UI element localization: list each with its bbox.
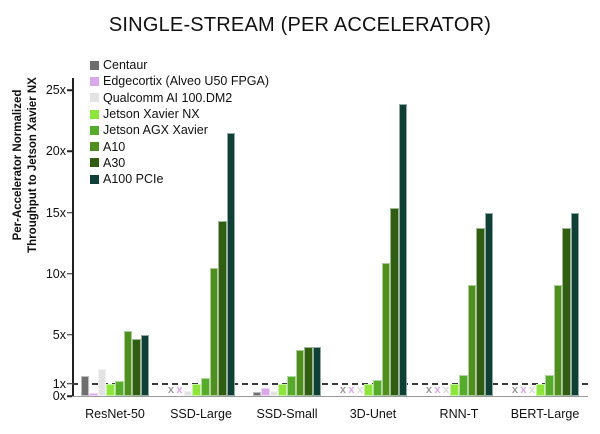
missing-value-x-marker: x [528,384,537,396]
bar [536,384,545,396]
legend-item[interactable]: Qualcomm AI 100.DM2 [90,90,269,106]
legend-item[interactable]: Edgecortix (Alveo U50 FPGA) [90,73,269,89]
y-axis-title-line-1: Per-Accelerator Normalized [11,45,26,285]
legend-item[interactable]: A30 [90,155,269,171]
bar [571,213,580,396]
legend-item-label: A30 [103,156,125,170]
missing-value-x-marker: x [519,384,528,396]
x-axis-category-label: RNN-T [416,396,502,421]
legend-item-label: Jetson AGX Xavier [103,123,208,137]
bar [218,221,227,396]
bar [382,263,391,396]
bar [373,380,382,397]
missing-value-x-marker: x [356,384,365,396]
bar [304,347,313,396]
bar [192,384,201,396]
missing-value-x-marker: x [511,384,520,396]
bar-group: xxxBERT-Large [502,78,588,396]
missing-value-x-marker: x [442,384,451,396]
bar [132,339,141,396]
missing-value-x-marker: x [425,384,434,396]
bar [485,213,494,396]
legend-item[interactable]: Centaur [90,57,269,73]
bar [562,228,571,396]
bar [81,376,90,396]
legend-swatch-icon [90,61,99,70]
legend-item[interactable]: Jetson AGX Xavier [90,122,269,138]
missing-value-x-marker: x [433,384,442,396]
bar [476,228,485,396]
missing-value-x-marker: x [347,384,356,396]
x-axis-category-label: ResNet-50 [72,396,158,421]
bar [313,347,322,396]
bar [554,285,563,396]
chart-title: SINGLE-STREAM (PER ACCELERATOR) [0,14,600,37]
legend-swatch-icon [90,93,99,102]
y-axis-tick-label: 5x [53,328,66,342]
bar-group: xxxRNN-T [416,78,502,396]
missing-value-x-marker: x [175,384,184,396]
x-axis-category-label: SSD-Large [158,396,244,421]
legend-swatch-icon [90,126,99,135]
legend-item-label: A100 PCIe [103,172,163,186]
chart-container: SINGLE-STREAM (PER ACCELERATOR) Per-Acce… [0,0,600,434]
legend-swatch-icon [90,158,99,167]
y-axis-tick-label: 1x [53,377,66,391]
legend-item-label: A10 [103,140,125,154]
y-axis-title-line-2: Throughput to Jetson Xavier NX [26,45,41,285]
bar [545,375,554,396]
bar [124,331,133,396]
x-axis-category-label: 3D-Unet [330,396,416,421]
x-axis-category-label: BERT-Large [502,396,588,421]
bar [141,335,150,396]
bar [450,384,459,396]
bar [210,268,219,396]
y-axis-tick-label: 15x [46,206,66,220]
legend-item[interactable]: A100 PCIe [90,171,269,187]
legend-swatch-icon [90,175,99,184]
bar-group: xxx3D-Unet [330,78,416,396]
legend-swatch-icon [90,77,99,86]
bar [296,350,305,396]
bar [287,376,296,396]
bar [278,384,287,396]
bar [399,104,408,396]
bar [201,378,210,396]
legend-item[interactable]: A10 [90,138,269,154]
bar [459,375,468,396]
y-axis-tick-label: 0x [53,389,66,403]
legend-item[interactable]: Jetson Xavier NX [90,106,269,122]
bar [106,384,115,396]
bar [115,381,124,396]
bar [364,384,373,396]
missing-value-x-marker: x [167,384,176,396]
legend-item-label: Centaur [103,58,147,72]
legend-item-label: Qualcomm AI 100.DM2 [103,91,232,105]
x-axis-category-label: SSD-Small [244,396,330,421]
legend-item-label: Edgecortix (Alveo U50 FPGA) [103,74,269,88]
bar [261,388,270,396]
y-axis-tick-label: 10x [46,267,66,281]
bar [468,285,477,396]
y-axis-title: Per-Accelerator Normalized Throughput to… [11,45,45,285]
chart-legend: CentaurEdgecortix (Alveo U50 FPGA)Qualco… [90,57,269,187]
missing-value-x-marker: x [339,384,348,396]
bar [98,369,107,396]
y-axis-tick-label: 25x [46,83,66,97]
legend-item-label: Jetson Xavier NX [103,107,200,121]
legend-swatch-icon [90,110,99,119]
bar [390,208,399,396]
legend-swatch-icon [90,142,99,151]
y-axis-tick-label: 20x [46,144,66,158]
